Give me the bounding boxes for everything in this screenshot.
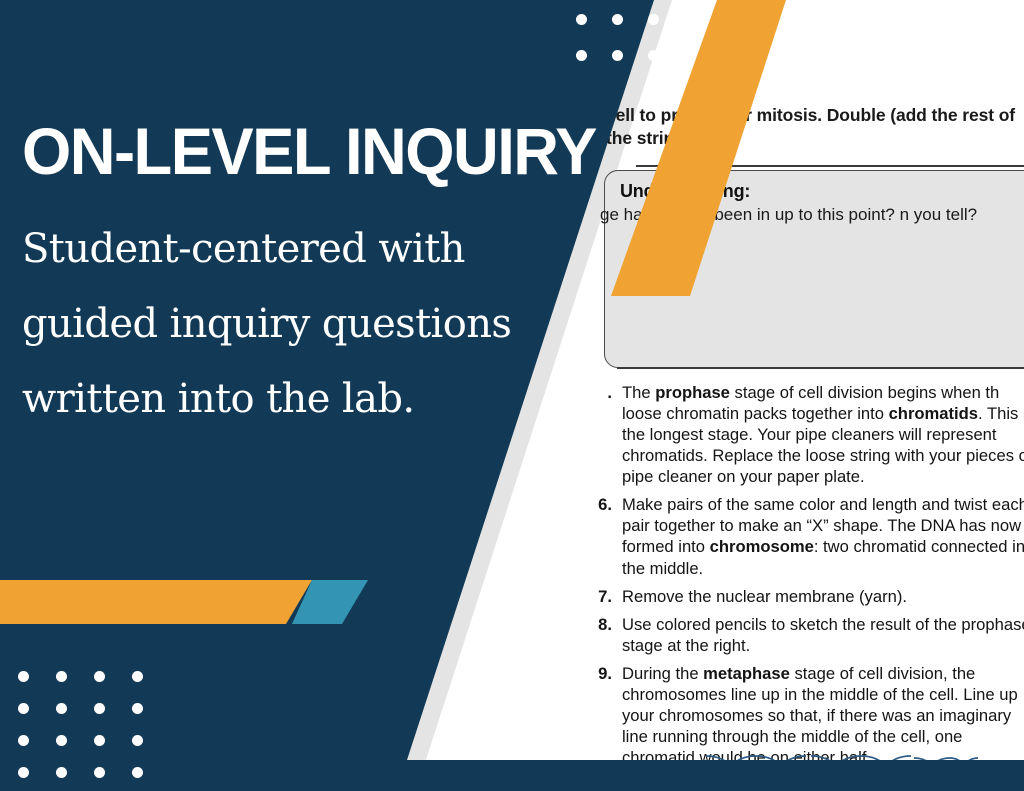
decorative-dot bbox=[648, 14, 659, 25]
decorative-dot bbox=[132, 703, 143, 714]
list-item-text: The prophase stage of cell division begi… bbox=[622, 382, 1024, 487]
decorative-dot bbox=[612, 50, 623, 61]
decorative-dot bbox=[684, 50, 695, 61]
list-item-number: . bbox=[592, 382, 622, 487]
dot-grid-bottom-left bbox=[18, 671, 170, 791]
decorative-dot bbox=[576, 14, 587, 25]
list-item-text: Remove the nuclear membrane (yarn). bbox=[622, 586, 1024, 607]
decorative-dot bbox=[18, 703, 29, 714]
decorative-dot bbox=[648, 50, 659, 61]
decorative-dot bbox=[18, 767, 29, 778]
list-item: 7.Remove the nuclear membrane (yarn). bbox=[592, 586, 1024, 607]
decorative-dot bbox=[56, 703, 67, 714]
list-item-number: 7. bbox=[592, 586, 622, 607]
list-item: 6.Make pairs of the same color and lengt… bbox=[592, 494, 1024, 578]
list-item: 8.Use colored pencils to sketch the resu… bbox=[592, 614, 1024, 656]
dot-grid-top-right bbox=[576, 14, 720, 86]
document-numbered-list: .The prophase stage of cell division beg… bbox=[592, 382, 1024, 775]
slide-canvas: cell to prepare for mitosis. Double (add… bbox=[0, 0, 1024, 791]
decorative-dot bbox=[94, 735, 105, 746]
decorative-dot bbox=[56, 767, 67, 778]
list-item: .The prophase stage of cell division beg… bbox=[592, 382, 1024, 487]
decorative-dot bbox=[94, 703, 105, 714]
page-title: ON-LEVEL INQUIRY bbox=[22, 118, 596, 184]
document-divider-rule-bottom bbox=[617, 367, 1024, 369]
decorative-dot bbox=[94, 671, 105, 682]
list-item-number: 6. bbox=[592, 494, 622, 578]
decorative-dot bbox=[132, 735, 143, 746]
page-subtitle: Student-centered with guided inquiry que… bbox=[22, 212, 552, 438]
decorative-dot bbox=[18, 671, 29, 682]
decorative-dot bbox=[56, 671, 67, 682]
list-item-number: 9. bbox=[592, 663, 622, 768]
list-item-text: Make pairs of the same color and length … bbox=[622, 494, 1024, 578]
list-item-text: Use colored pencils to sketch the result… bbox=[622, 614, 1024, 656]
decorative-dot bbox=[56, 735, 67, 746]
decorative-dot bbox=[684, 14, 695, 25]
decorative-dot bbox=[94, 767, 105, 778]
decorative-dot bbox=[132, 767, 143, 778]
decorative-dot bbox=[132, 671, 143, 682]
orange-accent-bar bbox=[0, 580, 312, 624]
decorative-dot bbox=[612, 14, 623, 25]
decorative-dot bbox=[576, 50, 587, 61]
decorative-dot bbox=[18, 735, 29, 746]
list-item-number: 8. bbox=[592, 614, 622, 656]
